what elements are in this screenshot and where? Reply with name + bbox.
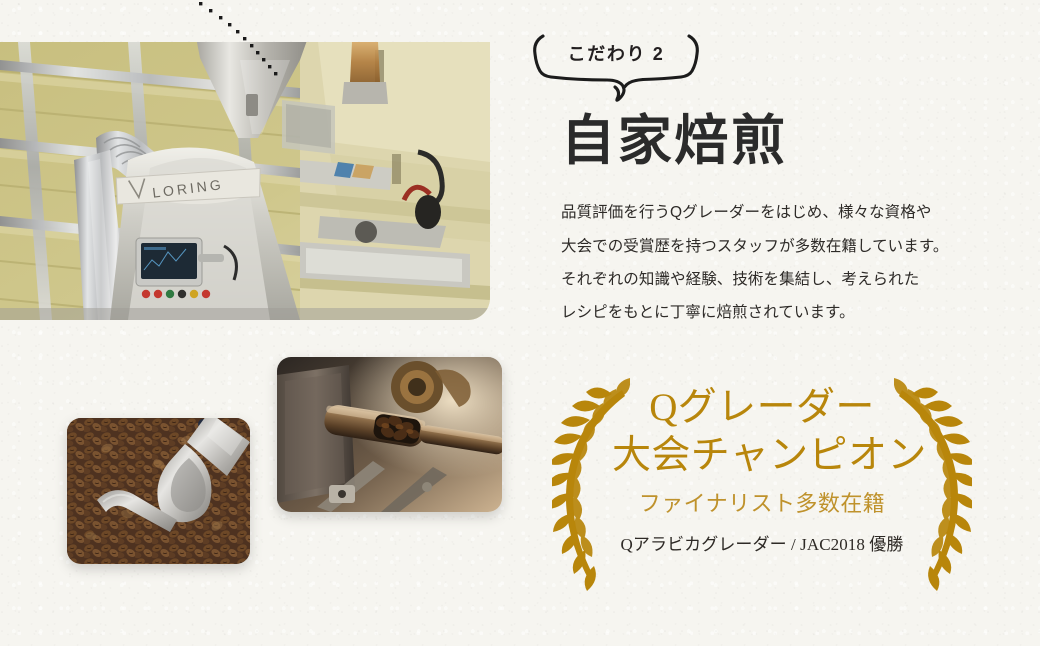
award-line-4: Qアラビカグレーダー / JAC2018 優勝	[612, 530, 912, 555]
body-copy: 品質評価を行うQグレーダーをはじめ、様々な資格や 大会での受賞歴を持つスタッフが…	[561, 196, 1013, 329]
photo-beans	[67, 418, 250, 564]
body-line: レシピをもとに丁寧に焙煎されています。	[561, 296, 1013, 329]
photo-trier	[277, 357, 502, 512]
dotted-line-icon	[195, 0, 325, 76]
award-badge: Qグレーダー 大会チャンピオン ファイナリスト多数在籍 Qアラビカグレーダー /…	[552, 378, 972, 593]
content-column: こだわり 2 自家焙煎 品質評価を行うQグレーダーをはじめ、様々な資格や 大会で…	[513, 28, 1013, 330]
award-line-1: Qグレーダー	[612, 384, 912, 432]
award-text-group: Qグレーダー 大会チャンピオン ファイナリスト多数在籍 Qアラビカグレーダー /…	[612, 384, 912, 555]
section-badge-label: こだわり 2	[521, 40, 711, 66]
award-line-2: 大会チャンピオン	[612, 432, 912, 480]
page-title: 自家焙煎	[561, 112, 1013, 170]
photo-roaster: LORING	[0, 42, 490, 320]
body-line: 大会での受賞歴を持つスタッフが多数在籍しています。	[561, 230, 1013, 263]
body-line: 品質評価を行うQグレーダーをはじめ、様々な資格や	[561, 196, 1013, 229]
section-badge-bubble: こだわり 2	[521, 28, 711, 106]
body-line: それぞれの知識や経験、技術を集結し、考えられた	[561, 263, 1013, 296]
award-line-3: ファイナリスト多数在籍	[612, 486, 912, 518]
